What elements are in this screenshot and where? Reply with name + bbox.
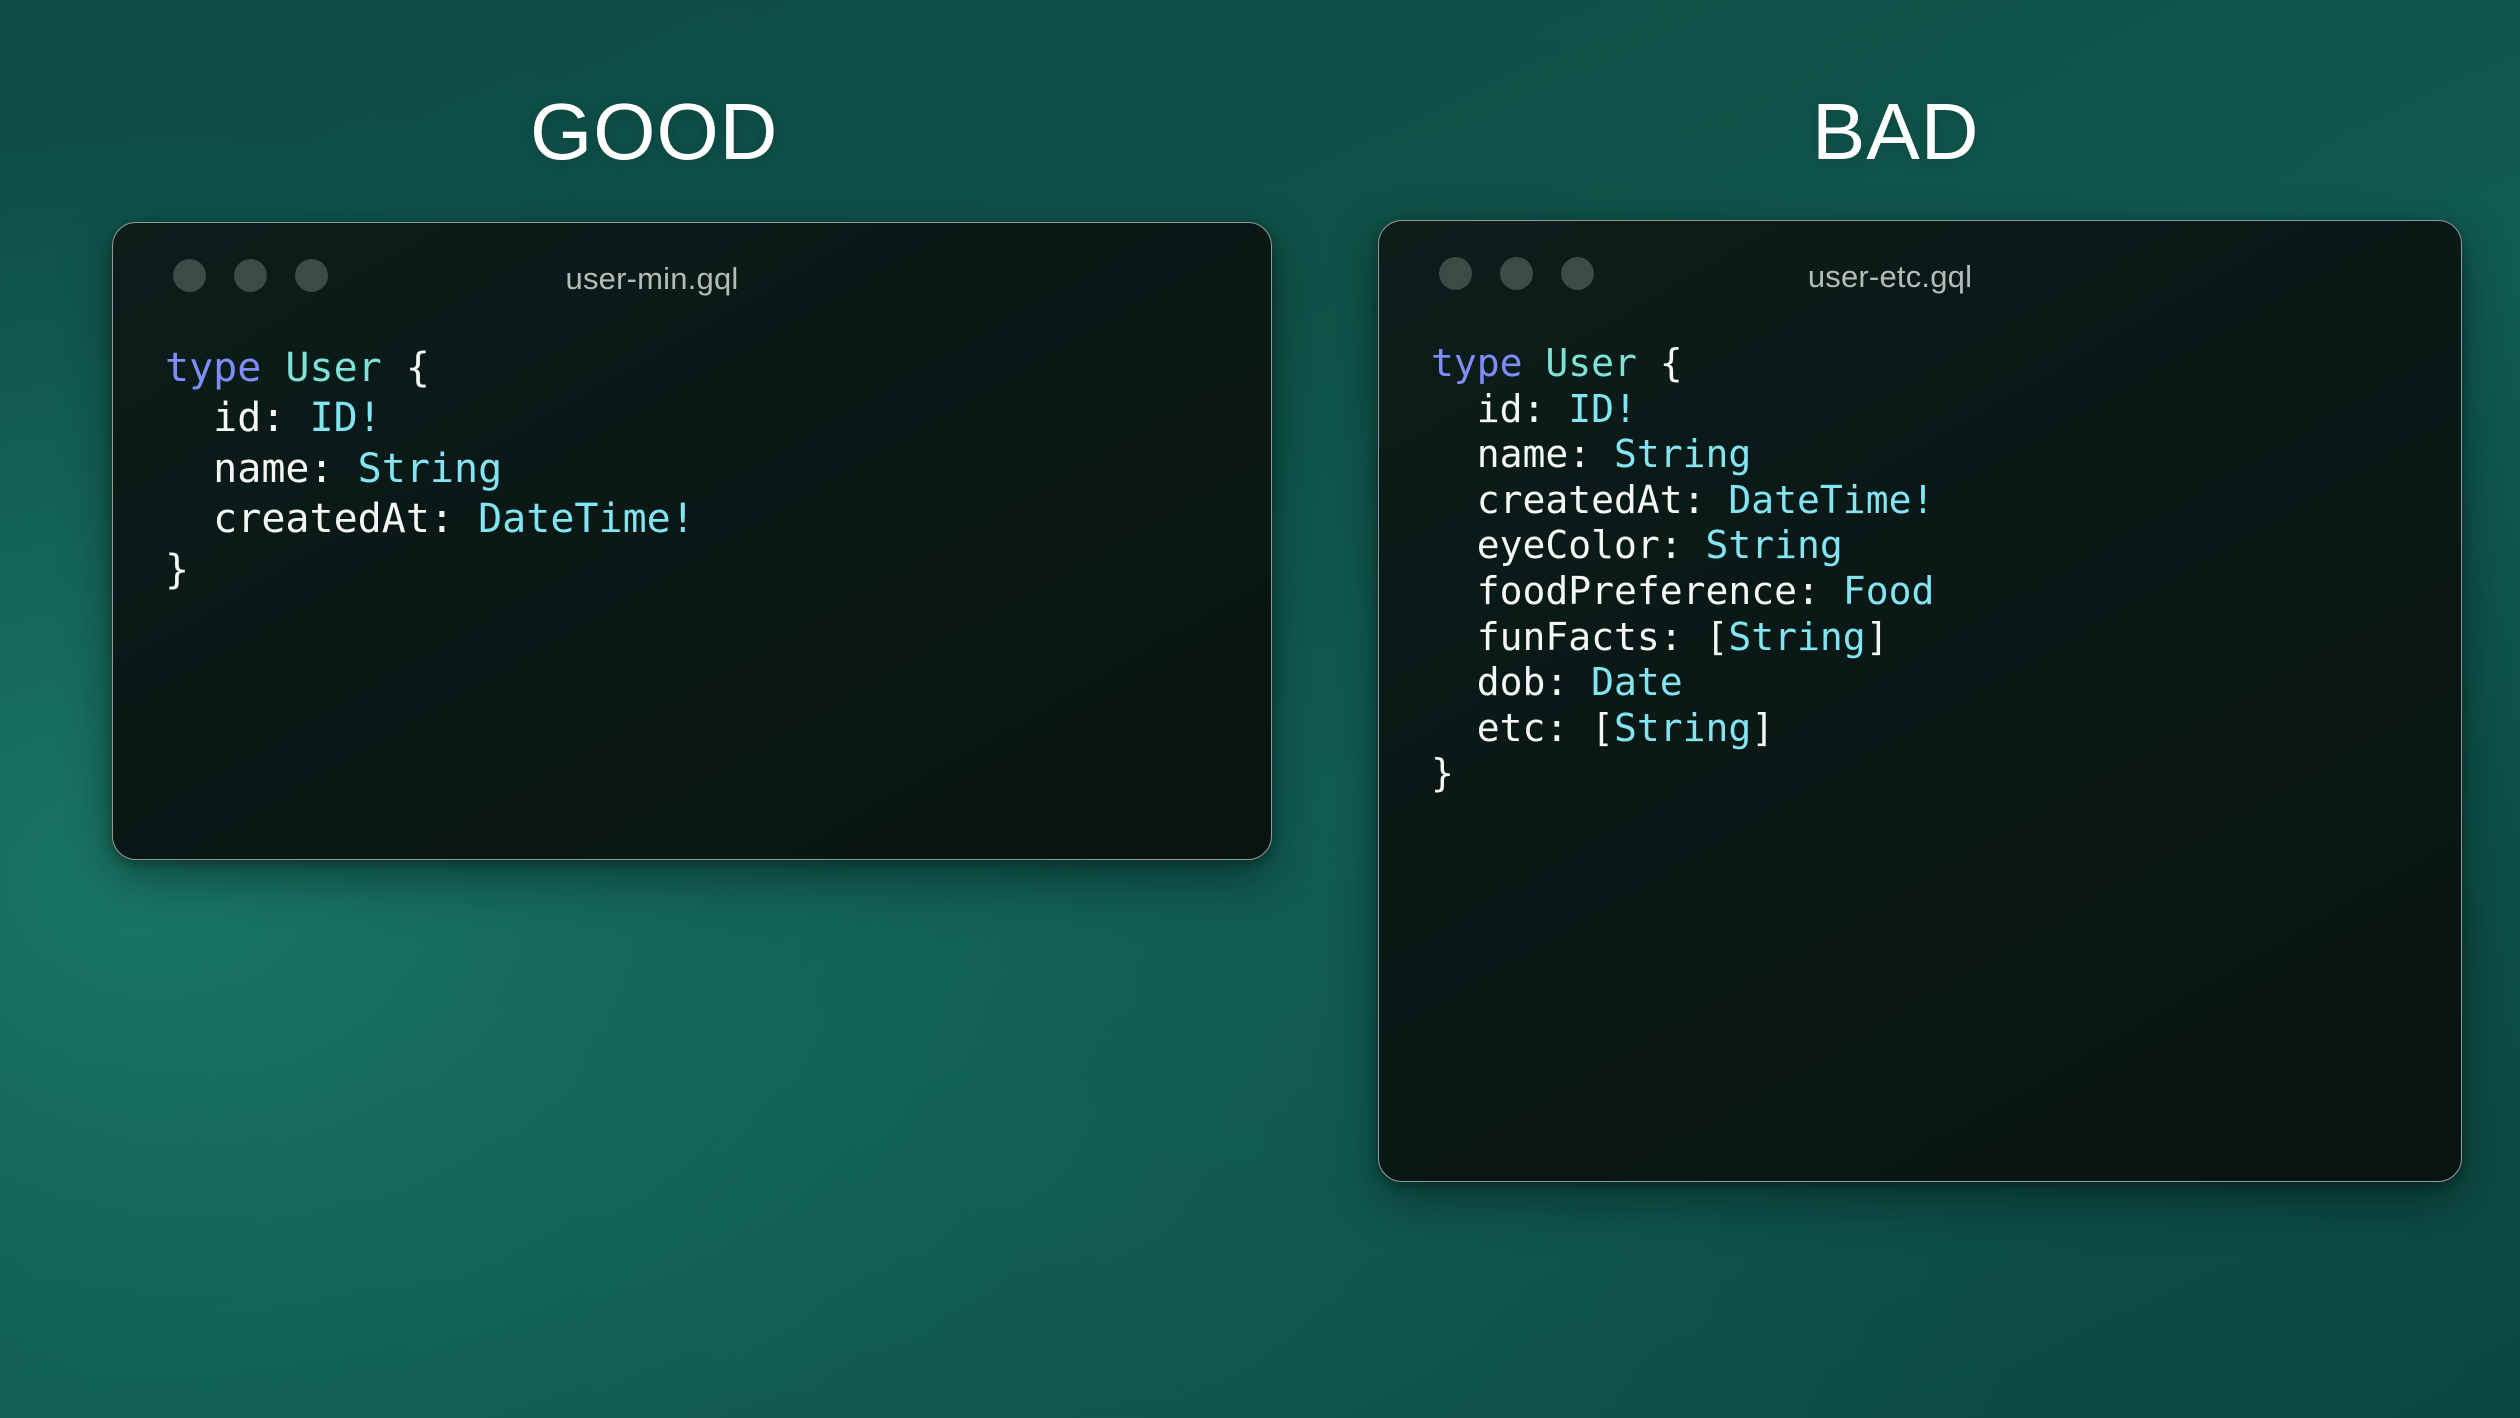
code-token-scalar: String	[358, 446, 503, 492]
file-name-label-good: user-min.gql	[113, 261, 1271, 297]
code-token-field: createdAt:	[165, 496, 478, 542]
code-token-field: eyeColor:	[1431, 523, 1706, 567]
panel-title-good: GOOD	[530, 92, 778, 172]
code-line: id: ID!	[165, 393, 1271, 443]
comparison-stage: GOOD user-min.gql type User { id: ID! na…	[0, 0, 2520, 1418]
code-token-punct: }	[165, 547, 189, 593]
code-line: eyeColor: String	[1431, 523, 2461, 569]
code-token-field: createdAt:	[1431, 478, 1728, 522]
code-token-field: id:	[1431, 387, 1568, 431]
code-token-scalar: ID!	[310, 395, 382, 441]
code-token-field: name:	[1431, 432, 1614, 476]
code-token-scalar: Food	[1843, 569, 1935, 613]
code-card-good: user-min.gql type User { id: ID! name: S…	[112, 222, 1272, 860]
code-line: createdAt: DateTime!	[165, 494, 1271, 544]
code-line: name: String	[165, 444, 1271, 494]
code-token-punct	[1523, 341, 1546, 385]
code-line: id: ID!	[1431, 387, 2461, 433]
code-card-bad: user-etc.gql type User { id: ID! name: S…	[1378, 220, 2462, 1182]
code-token-keyword: type	[165, 345, 261, 391]
code-line: }	[165, 545, 1271, 595]
code-token-scalar: DateTime!	[1728, 478, 1934, 522]
code-token-punct: {	[1637, 341, 1683, 385]
code-line: type User {	[1431, 341, 2461, 387]
card-titlebar-bad: user-etc.gql	[1379, 221, 2461, 317]
code-token-field: id:	[165, 395, 310, 441]
code-token-field: foodPreference:	[1431, 569, 1843, 613]
code-line: type User {	[165, 343, 1271, 393]
code-token-scalar: String	[1614, 706, 1751, 750]
code-token-scalar: DateTime!	[478, 496, 695, 542]
card-titlebar-good: user-min.gql	[113, 223, 1271, 319]
code-token-punct	[261, 345, 285, 391]
code-line: funFacts: [String]	[1431, 615, 2461, 661]
code-line: }	[1431, 751, 2461, 797]
code-token-field: funFacts: [	[1431, 615, 1728, 659]
code-line: dob: Date	[1431, 660, 2461, 706]
code-token-punct: {	[382, 345, 430, 391]
code-line: foodPreference: Food	[1431, 569, 2461, 615]
code-token-field: dob:	[1431, 660, 1591, 704]
code-token-typename: User	[285, 345, 381, 391]
code-token-punct: ]	[1866, 615, 1889, 659]
code-token-scalar: String	[1614, 432, 1751, 476]
code-token-punct: ]	[1751, 706, 1774, 750]
code-token-scalar: String	[1728, 615, 1865, 659]
code-token-punct: }	[1431, 751, 1454, 795]
panel-title-bad: BAD	[1812, 92, 1980, 172]
code-block-bad: type User { id: ID! name: String created…	[1379, 317, 2461, 797]
file-name-label-bad: user-etc.gql	[1379, 259, 2461, 295]
code-line: etc: [String]	[1431, 706, 2461, 752]
code-token-scalar: ID!	[1568, 387, 1637, 431]
code-token-field: etc: [	[1431, 706, 1614, 750]
code-token-keyword: type	[1431, 341, 1523, 385]
code-line: createdAt: DateTime!	[1431, 478, 2461, 524]
code-token-field: name:	[165, 446, 358, 492]
code-token-scalar: String	[1706, 523, 1843, 567]
code-token-typename: User	[1545, 341, 1637, 385]
code-token-scalar: Date	[1591, 660, 1683, 704]
code-line: name: String	[1431, 432, 2461, 478]
code-block-good: type User { id: ID! name: String created…	[113, 319, 1271, 595]
